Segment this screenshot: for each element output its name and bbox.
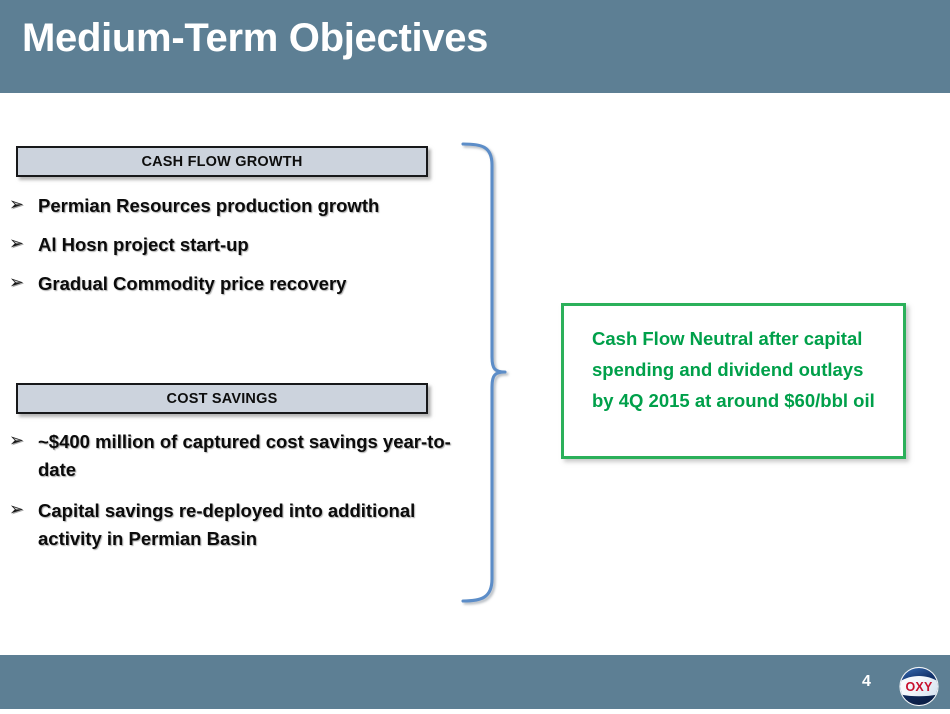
page-title: Medium-Term Objectives — [22, 16, 488, 61]
bullet-list-cost-savings: ➢ ~$400 million of captured cost savings… — [0, 428, 470, 566]
bullet-list-cash-flow-growth: ➢ Permian Resources production growth ➢ … — [0, 192, 470, 309]
callout-text: Cash Flow Neutral after capital spending… — [592, 323, 883, 416]
arrow-bullet-icon: ➢ — [0, 231, 38, 256]
list-item-text: Gradual Commodity price recovery — [38, 270, 346, 298]
list-item: ➢ Permian Resources production growth — [0, 192, 470, 220]
section-header-cost-savings: COST SAVINGS — [16, 383, 428, 414]
arrow-bullet-icon: ➢ — [0, 497, 38, 522]
slide-footer-bar — [0, 655, 950, 709]
list-item-text: Capital savings re-deployed into additio… — [38, 497, 458, 553]
section-header-label: COST SAVINGS — [167, 391, 278, 407]
arrow-bullet-icon: ➢ — [0, 270, 38, 295]
list-item: ➢ ~$400 million of captured cost savings… — [0, 428, 470, 484]
list-item: ➢ Al Hosn project start-up — [0, 231, 470, 259]
callout-box-cash-flow-neutral: Cash Flow Neutral after capital spending… — [561, 303, 906, 459]
oxy-logo-icon: OXY — [896, 664, 942, 709]
arrow-bullet-icon: ➢ — [0, 428, 38, 453]
list-item-text: Permian Resources production growth — [38, 192, 379, 220]
list-item: ➢ Gradual Commodity price recovery — [0, 270, 470, 298]
list-item: ➢ Capital savings re-deployed into addit… — [0, 497, 470, 553]
section-header-label: CASH FLOW GROWTH — [141, 154, 302, 170]
section-header-cash-flow-growth: CASH FLOW GROWTH — [16, 146, 428, 177]
arrow-bullet-icon: ➢ — [0, 192, 38, 217]
svg-text:OXY: OXY — [906, 680, 933, 694]
page-number: 4 — [862, 673, 871, 691]
list-item-text: Al Hosn project start-up — [38, 231, 249, 259]
list-item-text: ~$400 million of captured cost savings y… — [38, 428, 458, 484]
